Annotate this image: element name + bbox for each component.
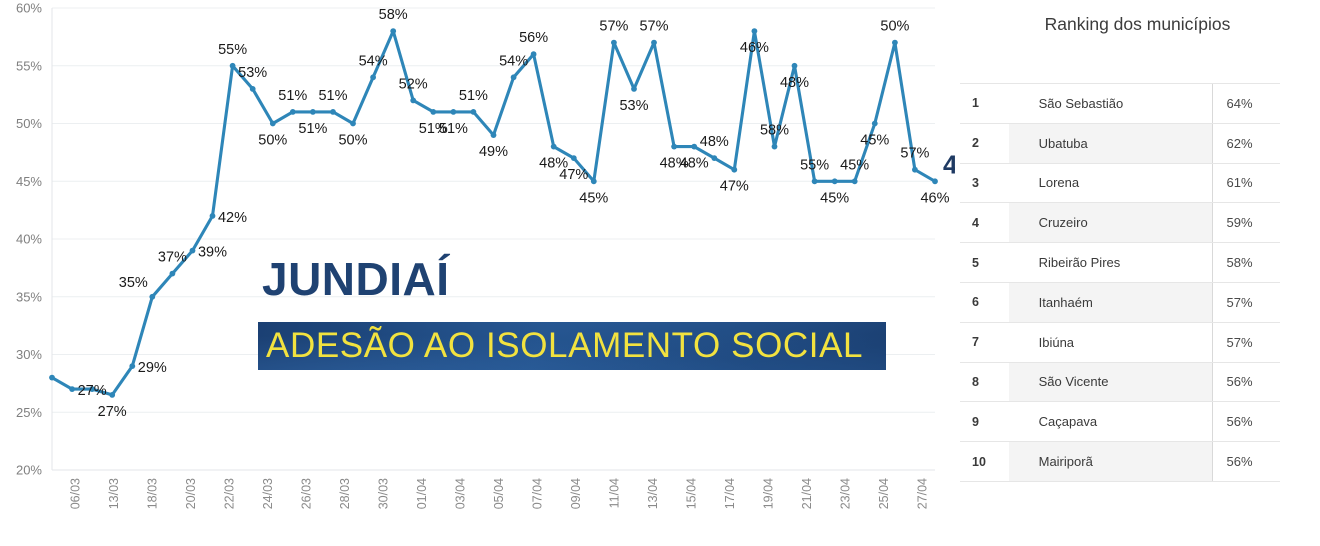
x-axis-tick-label: 24/03 — [261, 478, 275, 509]
data-point[interactable] — [330, 109, 336, 115]
data-point[interactable] — [531, 51, 537, 57]
y-axis-tick-label: 60% — [16, 1, 42, 16]
data-point[interactable] — [691, 144, 697, 150]
x-axis-tick-label: 17/04 — [723, 478, 737, 509]
rank-position: 3 — [960, 163, 1009, 203]
data-point[interactable] — [731, 167, 737, 173]
data-point-label: 49% — [479, 144, 508, 160]
table-row: 10Mairiporã56% — [960, 442, 1280, 482]
x-axis-tick-label: 20/03 — [184, 478, 198, 509]
data-point-label: 42% — [218, 210, 247, 226]
rank-city-name: Cruzeiro — [1009, 203, 1212, 243]
data-point[interactable] — [230, 63, 236, 69]
rank-position: 7 — [960, 322, 1009, 362]
data-point[interactable] — [651, 40, 657, 46]
data-point-label: 55% — [800, 157, 829, 173]
data-point-label: 47% — [720, 179, 749, 195]
data-point-label: 45% — [840, 157, 869, 173]
data-point[interactable] — [350, 121, 356, 127]
data-point[interactable] — [631, 86, 637, 92]
data-point-label: 51% — [318, 88, 347, 104]
x-axis-tick-label: 13/04 — [646, 478, 660, 509]
data-point[interactable] — [551, 144, 557, 150]
data-point-label: 58% — [760, 123, 789, 139]
rank-city-name: São Vicente — [1009, 362, 1212, 402]
data-point-label: 57% — [599, 19, 628, 35]
y-axis-tick-label: 20% — [16, 463, 42, 478]
data-point[interactable] — [792, 63, 798, 69]
data-point-label: 57% — [639, 19, 668, 35]
data-point[interactable] — [872, 121, 878, 127]
data-point-label: 48% — [780, 75, 809, 91]
rank-city-name: Lorena — [1009, 163, 1212, 203]
x-axis-tick-label: 30/03 — [376, 478, 390, 509]
data-point-label: 51% — [439, 121, 468, 137]
rank-city-name: Itanhaém — [1009, 282, 1212, 322]
x-axis-tick-label: 11/04 — [607, 478, 621, 508]
rank-position: 1 — [960, 84, 1009, 124]
x-axis-tick-label: 18/03 — [145, 478, 159, 509]
data-point[interactable] — [290, 109, 296, 115]
data-point-label: 37% — [158, 250, 187, 266]
data-point-label: 51% — [278, 88, 307, 104]
data-point[interactable] — [109, 392, 115, 398]
rank-position: 5 — [960, 243, 1009, 283]
data-point[interactable] — [571, 155, 577, 161]
y-axis-tick-label: 35% — [16, 289, 42, 304]
ranking-title: Ranking dos municípios — [955, 14, 1320, 35]
data-point-label: 46% — [920, 190, 949, 206]
data-point[interactable] — [370, 74, 376, 80]
data-point[interactable] — [832, 178, 838, 184]
x-axis-tick-label: 13/03 — [107, 478, 121, 509]
data-point[interactable] — [511, 74, 517, 80]
data-point[interactable] — [250, 86, 256, 92]
data-point[interactable] — [149, 294, 155, 300]
table-row: 8São Vicente56% — [960, 362, 1280, 402]
y-axis-tick-label: 45% — [16, 174, 42, 189]
data-point[interactable] — [410, 98, 416, 104]
table-row: 6Itanhaém57% — [960, 282, 1280, 322]
data-point[interactable] — [190, 248, 196, 254]
data-point-label: 51% — [459, 88, 488, 104]
data-point[interactable] — [310, 109, 316, 115]
rank-percent: 64% — [1212, 84, 1280, 124]
data-point-label: 54% — [499, 53, 528, 69]
data-point-label: 27% — [78, 383, 107, 399]
rank-position: 2 — [960, 123, 1009, 163]
y-axis-tick-label: 30% — [16, 347, 42, 362]
data-point[interactable] — [430, 109, 436, 115]
rank-percent: 59% — [1212, 203, 1280, 243]
table-row: 7Ibiúna57% — [960, 322, 1280, 362]
rank-city-name: Caçapava — [1009, 402, 1212, 442]
rank-percent: 56% — [1212, 442, 1280, 482]
data-point-label: 29% — [138, 360, 167, 376]
city-title: JUNDIAÍ — [262, 256, 450, 302]
rank-percent: 58% — [1212, 243, 1280, 283]
data-point-label: 46% — [740, 40, 769, 56]
data-point-label: 51% — [298, 121, 327, 137]
rank-percent: 62% — [1212, 123, 1280, 163]
data-point[interactable] — [812, 178, 818, 184]
y-axis-tick-label: 55% — [16, 58, 42, 73]
table-row: 5Ribeirão Pires58% — [960, 243, 1280, 283]
ranking-panel: Ranking dos municípios 1São Sebastião64%… — [955, 0, 1320, 546]
table-row: 4Cruzeiro59% — [960, 203, 1280, 243]
rank-city-name: Ibiúna — [1009, 322, 1212, 362]
table-row: 1São Sebastião64% — [960, 84, 1280, 124]
data-point-label: 53% — [619, 98, 648, 114]
rank-position: 6 — [960, 282, 1009, 322]
data-point[interactable] — [210, 213, 216, 219]
data-point[interactable] — [69, 386, 75, 392]
data-point-label: 53% — [238, 65, 267, 81]
isolation-chart-panel: 20%25%30%35%40%45%50%55%60%06/0313/0318/… — [0, 0, 955, 546]
y-axis-tick-label: 50% — [16, 116, 42, 131]
data-point-label: 50% — [258, 133, 287, 149]
data-point[interactable] — [491, 132, 497, 138]
data-point[interactable] — [270, 121, 276, 127]
data-point-label: 52% — [399, 76, 428, 92]
x-axis-tick-label: 06/03 — [68, 478, 82, 509]
data-point-label: 45% — [860, 133, 889, 149]
data-point[interactable] — [390, 28, 396, 34]
table-row: 9Caçapava56% — [960, 402, 1280, 442]
x-axis-tick-label: 15/04 — [684, 478, 698, 509]
data-point[interactable] — [49, 375, 55, 381]
data-point-label: 57% — [900, 146, 929, 162]
data-point[interactable] — [892, 40, 898, 46]
rank-position: 4 — [960, 203, 1009, 243]
y-axis-tick-label: 40% — [16, 232, 42, 247]
data-point[interactable] — [591, 178, 597, 184]
rank-percent: 57% — [1212, 282, 1280, 322]
data-point-label: 45% — [579, 190, 608, 206]
ranking-table-body: 1São Sebastião64%2Ubatuba62%3Lorena61%4C… — [960, 84, 1280, 482]
x-axis-tick-label: 25/04 — [877, 478, 891, 509]
x-axis-tick-label: 07/04 — [530, 478, 544, 509]
ranking-table: 1São Sebastião64%2Ubatuba62%3Lorena61%4C… — [960, 83, 1280, 482]
rank-percent: 56% — [1212, 402, 1280, 442]
x-axis-tick-label: 05/04 — [492, 478, 506, 509]
y-axis-tick-label: 25% — [16, 405, 42, 420]
x-axis-tick-label: 03/04 — [453, 478, 467, 509]
x-axis-tick-label: 26/03 — [299, 478, 313, 509]
x-axis-tick-label: 23/04 — [838, 478, 852, 509]
rank-city-name: Mairiporã — [1009, 442, 1212, 482]
rank-percent: 56% — [1212, 362, 1280, 402]
x-axis-tick-label: 19/04 — [761, 478, 775, 509]
current-value-label: 45% — [943, 149, 955, 179]
subtitle-banner: ADESÃO AO ISOLAMENTO SOCIAL — [258, 322, 886, 370]
data-point[interactable] — [772, 144, 778, 150]
rank-percent: 57% — [1212, 322, 1280, 362]
data-point[interactable] — [611, 40, 617, 46]
rank-city-name: São Sebastião — [1009, 84, 1212, 124]
data-point-label: 55% — [218, 42, 247, 58]
x-axis-tick-label: 01/04 — [415, 478, 429, 509]
data-point[interactable] — [451, 109, 457, 115]
rank-city-name: Ubatuba — [1009, 123, 1212, 163]
data-point[interactable] — [932, 178, 938, 184]
x-axis-tick-label: 28/03 — [338, 478, 352, 509]
data-point-label: 48% — [680, 156, 709, 172]
data-point-label: 47% — [559, 167, 588, 183]
rank-position: 8 — [960, 362, 1009, 402]
rank-percent: 61% — [1212, 163, 1280, 203]
data-point[interactable] — [170, 271, 176, 277]
table-row: 2Ubatuba62% — [960, 123, 1280, 163]
data-point-label: 48% — [700, 134, 729, 150]
data-point[interactable] — [129, 363, 135, 369]
data-point-label: 27% — [98, 404, 127, 420]
data-point-label: 56% — [519, 30, 548, 46]
data-point-label: 58% — [379, 7, 408, 23]
data-point[interactable] — [671, 144, 677, 150]
x-axis-tick-label: 27/04 — [915, 478, 929, 509]
rank-city-name: Ribeirão Pires — [1009, 243, 1212, 283]
subtitle-banner-label: ADESÃO AO ISOLAMENTO SOCIAL — [266, 326, 863, 366]
data-point[interactable] — [471, 109, 477, 115]
data-point-label: 54% — [359, 53, 388, 69]
data-point-label: 50% — [338, 133, 367, 149]
rank-position: 9 — [960, 402, 1009, 442]
data-point-label: 45% — [820, 190, 849, 206]
data-point[interactable] — [852, 178, 858, 184]
x-axis-tick-label: 21/04 — [800, 478, 814, 509]
data-point-label: 39% — [198, 245, 227, 261]
data-point[interactable] — [711, 155, 717, 161]
line-chart: 20%25%30%35%40%45%50%55%60%06/0313/0318/… — [0, 0, 955, 546]
data-point[interactable] — [752, 28, 758, 34]
x-axis-tick-label: 22/03 — [222, 478, 236, 509]
x-axis-tick-label: 09/04 — [569, 478, 583, 509]
rank-position: 10 — [960, 442, 1009, 482]
table-row: 3Lorena61% — [960, 163, 1280, 203]
data-point-label: 35% — [119, 275, 148, 291]
data-point[interactable] — [912, 167, 918, 173]
data-point-label: 50% — [880, 19, 909, 35]
